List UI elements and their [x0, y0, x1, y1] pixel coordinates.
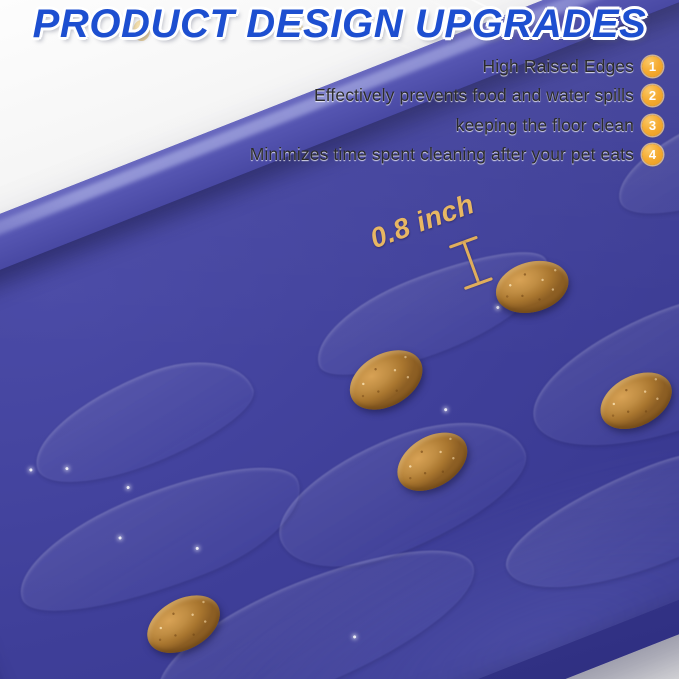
- title-letter-counter-fill: [292, 20, 303, 40]
- product-marketing-image: 0.8 inch PRODUCT DESIGN UPGRADES High Ra…: [0, 0, 679, 679]
- feature-number-badge: 1: [642, 56, 663, 77]
- feature-number-badge: 2: [642, 85, 663, 106]
- feature-list: High Raised Edges 1 Effectively prevents…: [3, 54, 663, 172]
- feature-text: Effectively prevents food and water spil…: [314, 85, 634, 106]
- feature-number-badge: 4: [642, 144, 663, 165]
- feature-item: Effectively prevents food and water spil…: [3, 84, 663, 108]
- feature-text: keeping the floor clean: [456, 115, 634, 136]
- feature-item: Minimizes time spent cleaning after your…: [3, 143, 663, 167]
- feature-item: High Raised Edges 1: [3, 54, 663, 78]
- feature-text: High Raised Edges: [482, 56, 634, 77]
- title-letter-counter-fill: [133, 20, 150, 41]
- feature-number-badge: 3: [642, 115, 663, 136]
- dimension-stem: [462, 241, 480, 285]
- feature-item: keeping the floor clean 3: [3, 113, 663, 137]
- feature-text: Minimizes time spent cleaning after your…: [250, 144, 634, 165]
